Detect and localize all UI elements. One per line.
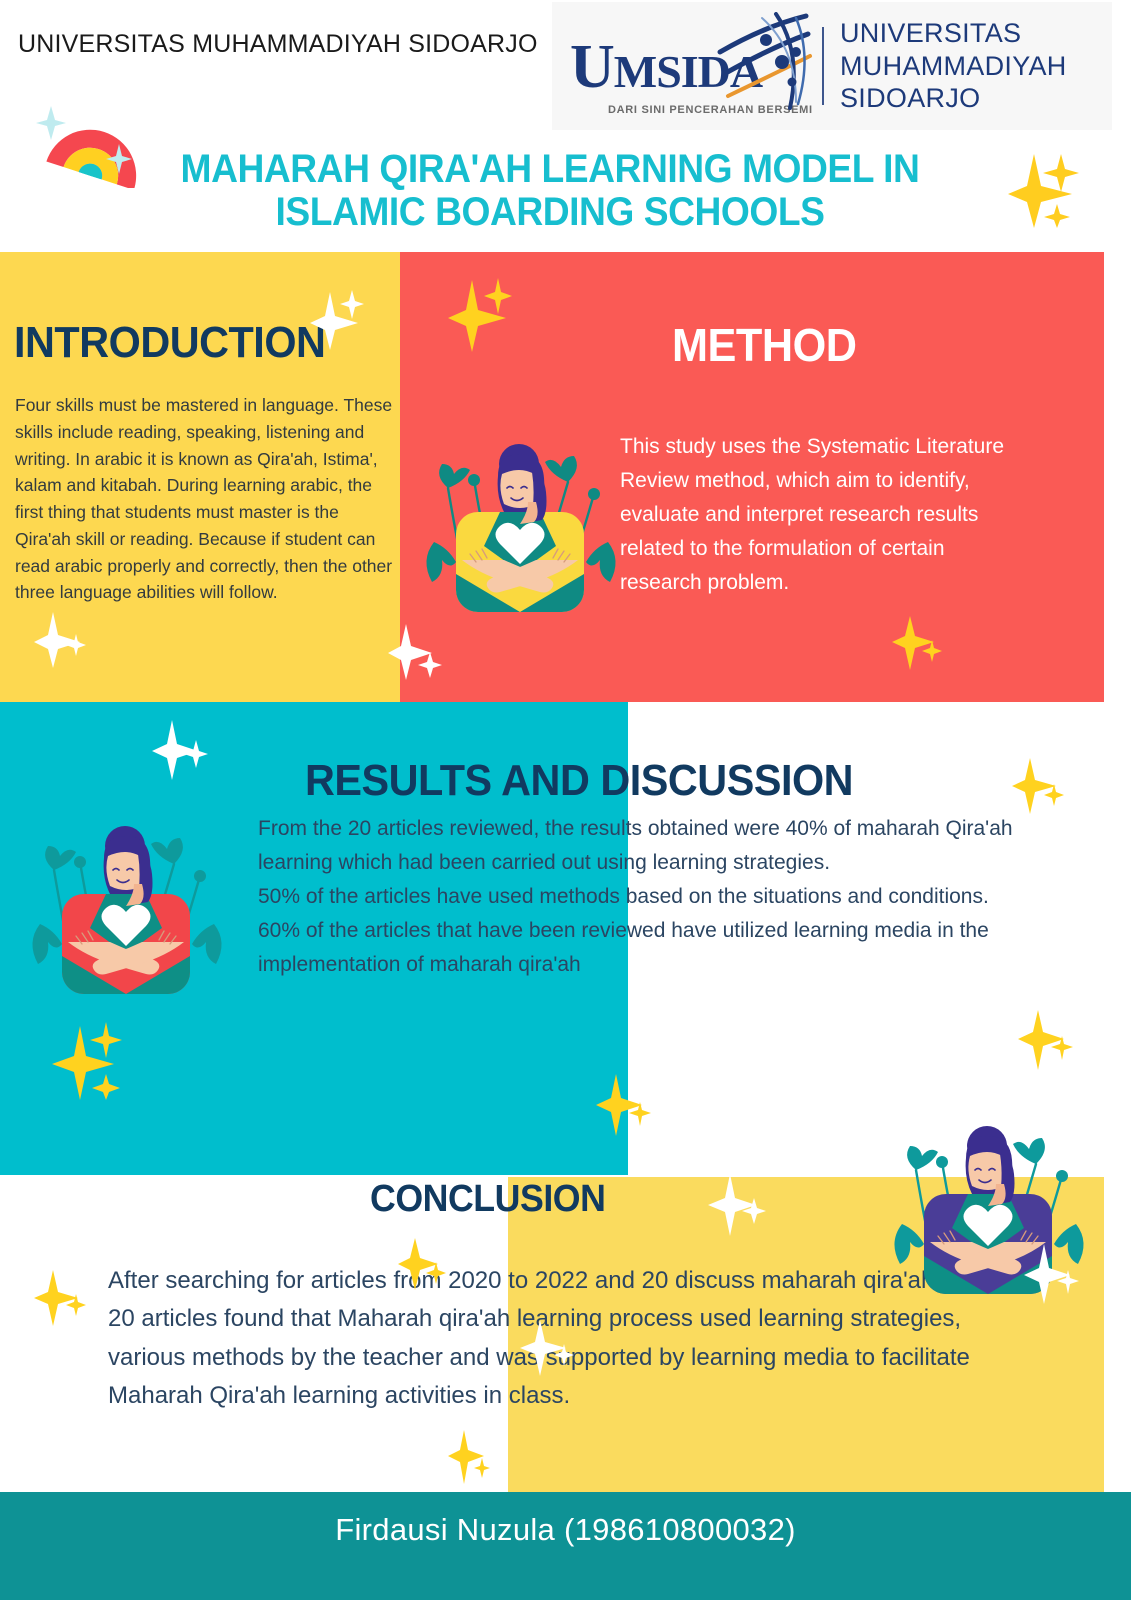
introduction-body: Four skills must be mastered in language… bbox=[15, 392, 395, 606]
introduction-heading: INTRODUCTION bbox=[14, 318, 325, 368]
conclusion-heading: CONCLUSION bbox=[370, 1178, 605, 1221]
globe-network-icon bbox=[710, 12, 820, 122]
umsida-logo: UMSIDA DARI SINI PENCERAHAN BERSEMI bbox=[552, 2, 1112, 130]
hugging-heart-illustration-method bbox=[412, 424, 624, 614]
hugging-heart-illustration-results bbox=[18, 806, 230, 996]
page-title-line2: ISLAMIC BOARDING SCHOOLS bbox=[39, 191, 1062, 234]
page-title-line1: MAHARAH QIRA'AH LEARNING MODEL IN bbox=[39, 148, 1062, 191]
sparkle-icon-yellow-conclusion-3 bbox=[448, 1428, 490, 1489]
hugging-heart-illustration-conclusion bbox=[880, 1106, 1092, 1296]
logo-university-lines: UNIVERSITAS MUHAMMADIYAH SIDOARJO bbox=[840, 17, 1067, 116]
logo-divider bbox=[822, 27, 824, 105]
results-heading: RESULTS AND DISCUSSION bbox=[305, 756, 853, 806]
university-name: UNIVERSITAS MUHAMMADIYAH SIDOARJO bbox=[18, 30, 538, 59]
logo-wordmark-u: U bbox=[570, 33, 614, 101]
footer-author: Firdausi Nuzula (198610800032) bbox=[0, 1512, 1131, 1548]
logo-line-sidoarjo: SIDOARJO bbox=[840, 82, 1067, 115]
logo-wordmark-area: UMSIDA DARI SINI PENCERAHAN BERSEMI bbox=[552, 6, 822, 126]
method-body: This study uses the Systematic Literatur… bbox=[620, 430, 1032, 600]
sparkle-icon-yellow-conclusion-2 bbox=[34, 1268, 86, 1331]
sparkle-icon-yellow-results-1 bbox=[1012, 756, 1064, 819]
method-heading: METHOD bbox=[672, 318, 857, 372]
results-body: From the 20 articles reviewed, the resul… bbox=[258, 812, 1018, 982]
logo-line-muhammadiyah: MUHAMMADIYAH bbox=[840, 50, 1067, 83]
poster-canvas: UNIVERSITAS MUHAMMADIYAH SIDOARJO UMSIDA… bbox=[0, 0, 1131, 1600]
page-title: MAHARAH QIRA'AH LEARNING MODEL IN ISLAMI… bbox=[39, 148, 1062, 234]
sparkle-icon-yellow-results-3 bbox=[1018, 1008, 1074, 1075]
logo-line-universitas: UNIVERSITAS bbox=[840, 17, 1067, 50]
